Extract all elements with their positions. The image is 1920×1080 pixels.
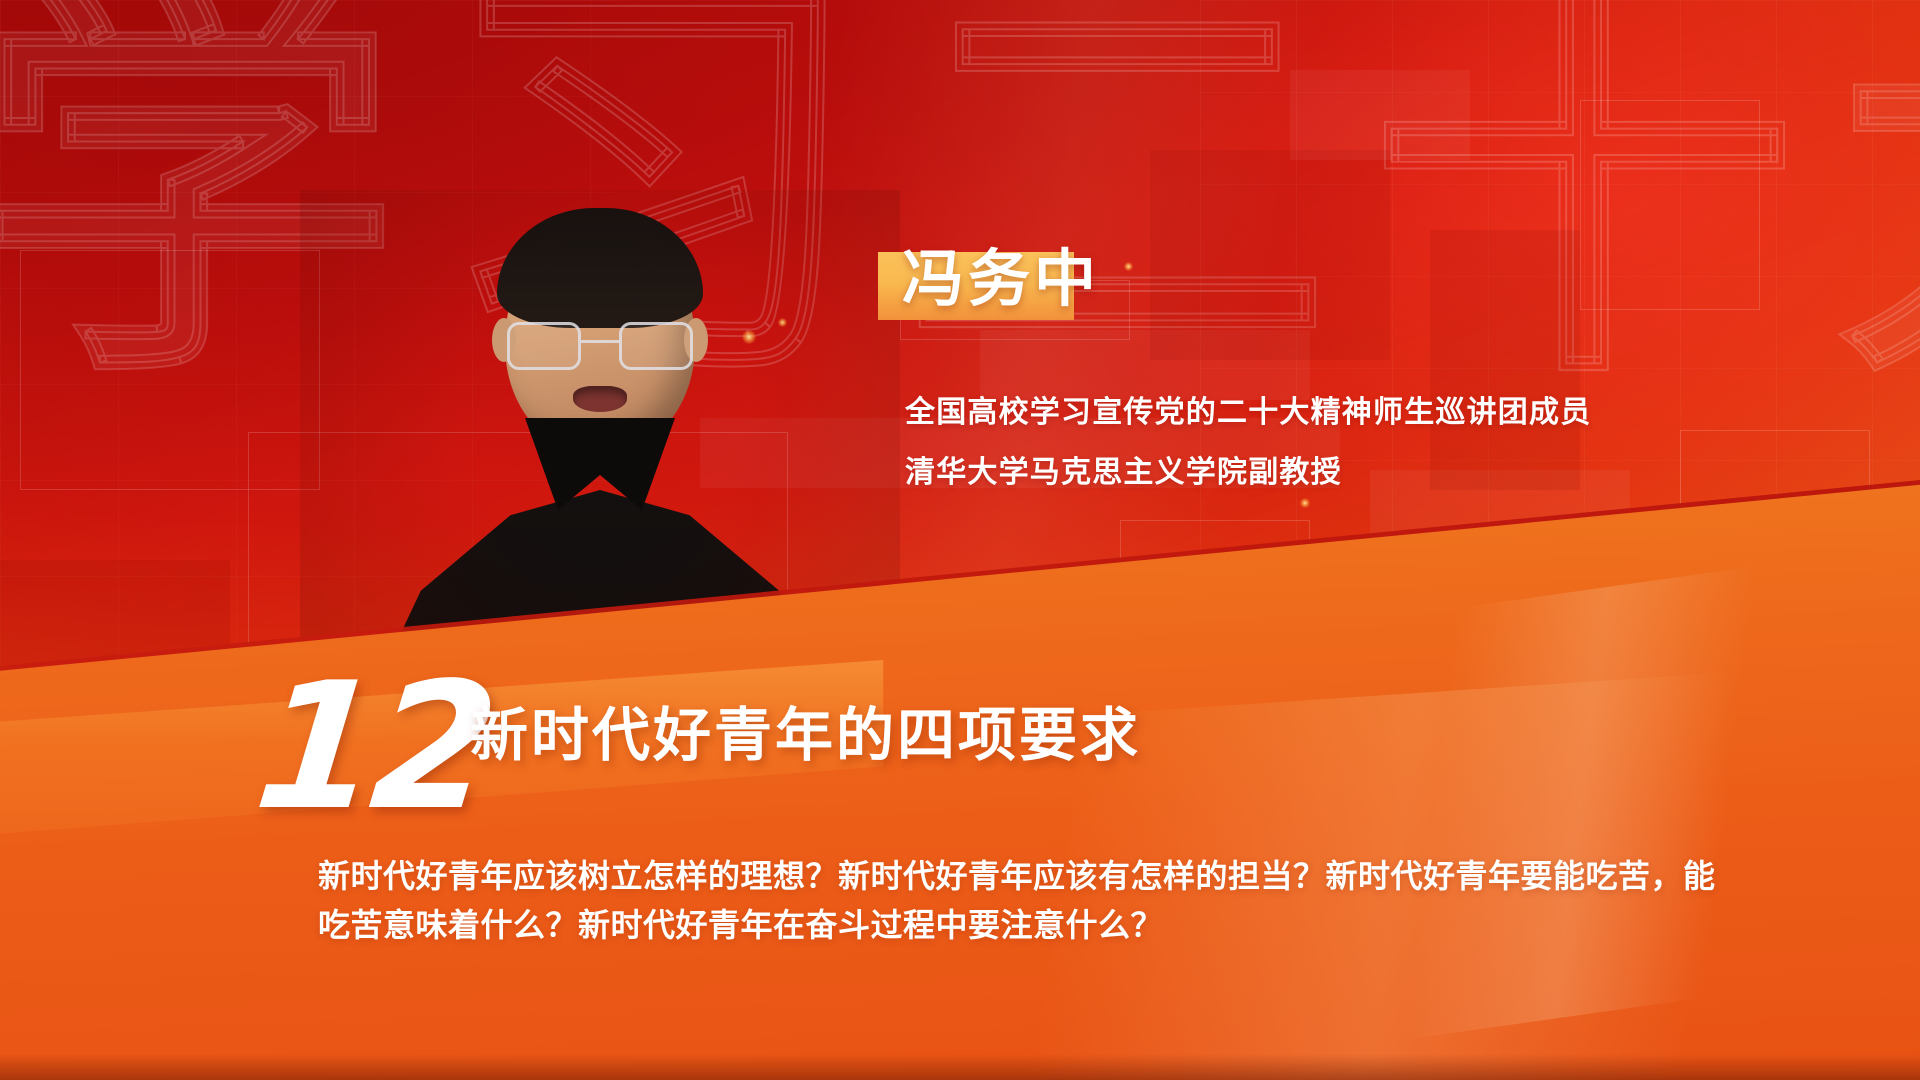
speaker-mouth <box>573 386 627 412</box>
glasses-lens-left <box>507 322 581 370</box>
speaker-name: 冯务中 <box>902 248 1100 310</box>
slide-root: 学习二十大 <box>0 0 1920 1080</box>
lesson-title: 新时代好青年的四项要求 <box>470 706 1141 764</box>
glasses-bridge <box>581 340 619 343</box>
sparkle-dot <box>1124 262 1133 271</box>
glasses-lens-right <box>619 322 693 370</box>
lesson-description: 新时代好青年应该树立怎样的理想？新时代好青年应该有怎样的担当？新时代好青年要能吃… <box>318 852 1718 949</box>
glasses-icon <box>507 322 693 374</box>
speaker-credentials: 全国高校学习宣传党的二十大精神师生巡讲团成员 清华大学马克思主义学院副教授 <box>905 398 1805 518</box>
credential-line-2: 清华大学马克思主义学院副教授 <box>905 458 1805 488</box>
credential-line-1: 全国高校学习宣传党的二十大精神师生巡讲团成员 <box>905 398 1805 428</box>
speaker-hair <box>497 208 703 328</box>
lesson-number: 12 <box>249 660 499 835</box>
bottom-edge-shadow <box>0 1054 1920 1080</box>
